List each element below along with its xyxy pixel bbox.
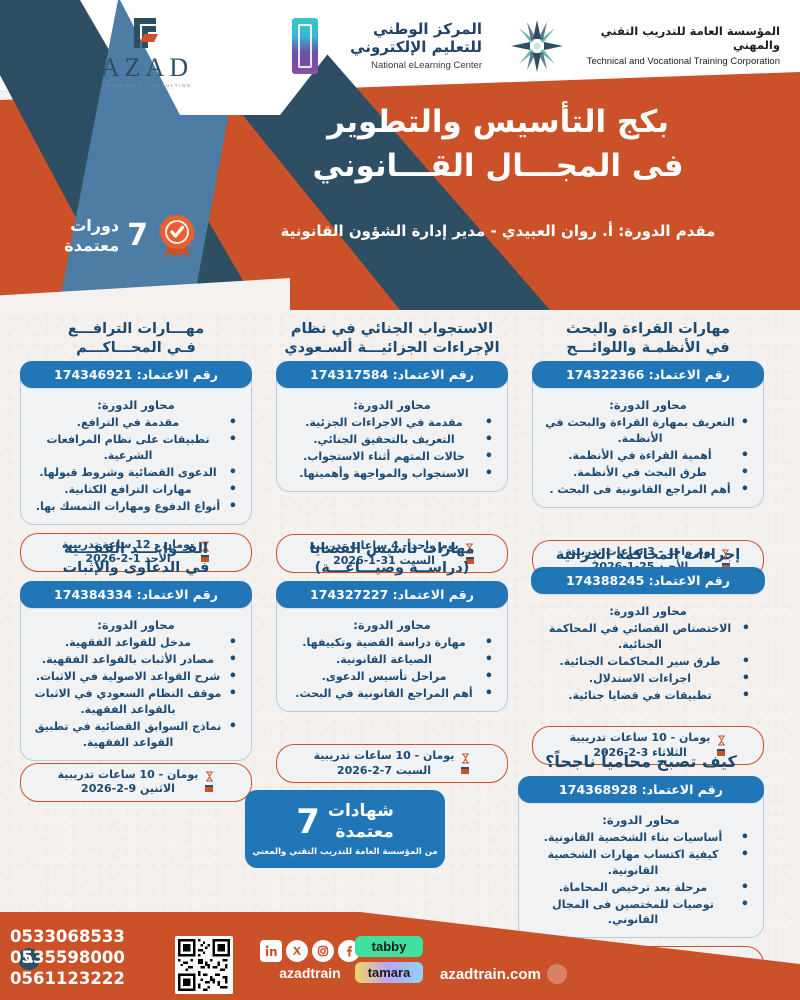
social-handle[interactable]: azadtrain (279, 965, 340, 981)
nelc-logo: المركز الوطني للتعليم الإلكتروني Nationa… (292, 10, 482, 82)
course-axis-item: نماذج السوابق القضائية في تطبيق القواعد … (31, 719, 237, 751)
certified-seal-icon (156, 213, 198, 259)
course-axis-item: أساسيات بناء الشخصية القانونية. (529, 830, 749, 846)
accreditation-number: رقم الاعتماد: 174384334 (20, 581, 252, 608)
course-axis-item: مرحلة بعد ترخيص المحاماة. (529, 880, 749, 896)
course-axis-item: حالات المتهم أثناء الاستجواب. (287, 449, 493, 465)
schedule-icons (460, 753, 470, 775)
course-title-line2: الإجراءات الجزائيـــة ألسـعودي (276, 339, 508, 358)
course-title: الاستجواب الجنائي في نظام الإجراءات الجز… (276, 320, 508, 358)
website-link[interactable]: azadtrain.com (440, 964, 567, 984)
course-axis-item: أهمية القراءة في الأنظمة. (543, 448, 749, 464)
axes-heading: محاور الدورة: (519, 813, 763, 827)
tabby-logo: tabby (355, 936, 423, 957)
azad-tagline: TRAINING & CONSULTING (102, 83, 192, 88)
course-duration: يومان - 10 ساعات تدريبية (314, 749, 455, 764)
phone-number[interactable]: 0533068533 (10, 926, 160, 947)
course-card[interactable]: مهارات تأسيس القضايا (دراســة وصيـــاغــ… (276, 540, 508, 783)
course-card[interactable]: مهـــارات الترافـــع فـي المحـــاكـــم ر… (20, 320, 252, 572)
courses-count-line1: دورات (64, 216, 119, 236)
tvtc-text: المؤسسة العامة للتدريب التقني والمهني Te… (574, 25, 780, 67)
axes-heading: محاور الدورة: (277, 398, 507, 412)
course-axis-item: تطبيقات على نظام المرافعات الشرعية. (31, 432, 237, 464)
tvtc-star-icon (508, 17, 566, 75)
course-axis-item: الاختصتاص القضائي في المحاكمة الجنائية. (542, 621, 750, 653)
course-axis-item: كيفية اكتساب مهارات الشخصية القانونية. (529, 847, 749, 879)
course-axis-item: مهارة دراسة القضية وتكييفها. (287, 635, 493, 651)
course-axis-item: طرق البحث في الأنظمة. (543, 465, 749, 481)
course-date: الاثنين 9-2-2026 (58, 782, 199, 797)
course-body: رقم الاعتماد: 174327227 محاور الدورة: مه… (276, 583, 508, 712)
axes-heading: محاور الدورة: (277, 618, 507, 632)
course-axis-item: تطبيقات في قضايا جنائية. (542, 688, 750, 704)
azad-logo: AZAD TRAINING & CONSULTING (72, 8, 222, 88)
certificates-label: شهادات معتمدة (328, 801, 394, 842)
course-axis-item: مدخل للقواعد الفقهية. (31, 635, 237, 651)
course-axes-list: مدخل للقواعد الفقهية. مصادر الأثبات بالق… (21, 635, 251, 751)
courses-count-badge: 7 دورات معتمدة (28, 205, 198, 267)
schedule-text: يومان - 10 ساعات تدريبية السبت 7-2-2026 (314, 749, 455, 779)
course-axes-list: مقدمة في الترافع. تطبيقات على نظام المرا… (21, 415, 251, 515)
course-schedule: يومان - 10 ساعات تدريبية الاثنين 9-2-202… (20, 763, 252, 803)
course-body: رقم الاعتماد: 174322366 محاور الدورة: ال… (532, 363, 764, 508)
course-axis-item: أهم المراجع القانونية في البحث. (287, 686, 493, 702)
course-axis-item: اجراءات الاستدلال. (542, 671, 750, 687)
course-body: رقم الاعتماد: 174346921 محاور الدورة: مق… (20, 363, 252, 525)
course-card[interactable]: القــواعـــد الفقـــية في الدعاوى والإثب… (20, 540, 252, 802)
certificates-note: من المؤسسة العامة للتدريب التقني والمعني (252, 847, 437, 857)
axes-heading: محاور الدورة: (533, 398, 763, 412)
course-axis-item: مقدمة في الترافع. (31, 415, 237, 431)
azad-wordmark: AZAD (101, 55, 193, 81)
nelc-text: المركز الوطني للتعليم الإلكتروني Nationa… (324, 21, 482, 71)
course-title-line1: مهارات تأسيس القضايا (276, 540, 508, 559)
poster-title-line2: فى المجـــال القـــانوني (218, 144, 778, 188)
payment-methods: tabby tamara (355, 936, 423, 983)
course-schedule: يومان - 10 ساعات تدريبية السبت 7-2-2026 (276, 744, 508, 784)
schedule-icons (204, 771, 214, 793)
schedule-text: يومان - 10 ساعات تدريبية الاثنين 9-2-202… (58, 768, 199, 798)
course-card[interactable]: مهارات القراءة والبحث في الأنظمـة واللوا… (532, 320, 764, 579)
axes-heading: محاور الدورة: (21, 618, 251, 632)
course-axis-item: مصادر الأثبات بالقواعد الفقهية. (31, 652, 237, 668)
course-axes-list: الاختصتاص القضائي في المحاكمة الجنائية. … (532, 621, 764, 704)
course-axis-item: شرح القواعد الاصولية في الاثبات. (31, 669, 237, 685)
course-axis-item: أنواع الدفوع ومهارات التمسك بها. (31, 499, 237, 515)
course-axis-item: أهم المراجع القانونية فى البحث . (543, 482, 749, 498)
course-card[interactable]: الاستجواب الجنائي في نظام الإجراءات الجز… (276, 320, 508, 573)
course-title-line2: في الدعاوى والإثبات (20, 559, 252, 578)
course-title: مهارات تأسيس القضايا (دراســة وصيـــاغــ… (276, 540, 508, 578)
course-body: رقم الاعتماد: 174388245 محاور الدورة: ال… (532, 569, 764, 704)
nelc-mark-icon (292, 18, 318, 74)
calendar-icon (460, 765, 470, 775)
tvtc-logo: المؤسسة العامة للتدريب التقني والمهني Te… (508, 10, 780, 82)
course-axis-item: التعريف بالتحقيق الجنائي. (287, 432, 493, 448)
calendar-icon (204, 783, 214, 793)
course-title-line2: في الأنظمـة واللوائـــح (532, 339, 764, 358)
tamara-logo: tamara (355, 962, 423, 983)
phone-number[interactable]: 0535598000 (10, 947, 160, 968)
nelc-english: National eLearning Center (324, 60, 482, 71)
hourglass-icon (461, 753, 470, 764)
course-axis-item: الاستجواب والمواجهة وأهميتها. (287, 466, 493, 482)
certificates-badge: شهادات معتمدة 7 من المؤسسة العامة للتدري… (245, 790, 445, 868)
accreditation-number: رقم الاعتماد: 174327227 (276, 581, 508, 608)
course-duration: يومان - 10 ساعات تدريبية (570, 731, 711, 746)
poster-title: بكج التأسيس والتطوير فى المجـــال القـــ… (218, 100, 778, 188)
course-axis-item: الدعوى القضائية وشروط قبولها. (31, 465, 237, 481)
course-axis-item: الصياغة القانونية. (287, 652, 493, 668)
course-title-line1: القــواعـــد الفقـــية (20, 540, 252, 559)
instagram-icon[interactable] (312, 940, 334, 962)
social-icon-row (260, 940, 360, 962)
accreditation-number: رقم الاعتماد: 174388245 (531, 567, 765, 594)
course-body: رقم الاعتماد: 174317584 محاور الدورة: مق… (276, 363, 508, 492)
phone-numbers[interactable]: 0533068533 0535598000 0561123222 (10, 926, 160, 989)
course-title: القــواعـــد الفقـــية في الدعاوى والإثب… (20, 540, 252, 578)
poster-root: AZAD TRAINING & CONSULTING المركز الوطني… (0, 0, 800, 1000)
hourglass-icon (205, 771, 214, 782)
tvtc-arabic: المؤسسة العامة للتدريب التقني والمهني (574, 25, 780, 53)
course-title-line1: مهـــارات الترافـــع (20, 320, 252, 339)
linkedin-icon[interactable] (260, 940, 282, 962)
certificates-row: شهادات معتمدة 7 (296, 801, 394, 842)
course-date: السبت 7-2-2026 (314, 764, 455, 779)
nelc-arabic-line1: المركز الوطني (324, 21, 482, 39)
course-axis-item: التعريف بمهارة القراءة والبحث في الأنظمة… (543, 415, 749, 447)
course-duration: يومان - 10 ساعات تدريبية (58, 768, 199, 783)
course-title-line1: مهارات القراءة والبحث (532, 320, 764, 339)
x-icon[interactable] (286, 940, 308, 962)
certificates-number: 7 (296, 805, 320, 839)
course-axis-item: مهارات الترافع الكتابية. (31, 482, 237, 498)
poster-title-line1: بكج التأسيس والتطوير (218, 100, 778, 144)
course-title: مهـــارات الترافـــع فـي المحـــاكـــم (20, 320, 252, 358)
phone-number[interactable]: 0561123222 (10, 968, 160, 989)
certificates-line2: معتمدة (328, 822, 394, 843)
poster-subtitle: مقدم الدورة: أ. روان العبيدي - مدير إدار… (218, 222, 778, 240)
course-axes-list: مقدمة في الاجراءات الجزئية. التعريف بالت… (277, 415, 507, 482)
course-title-line1: إجراءات المحاكمة الجزائية (532, 546, 764, 565)
tvtc-english: Technical and Vocational Training Corpor… (574, 56, 780, 67)
course-axes-list: التعريف بمهارة القراءة والبحث في الأنظمة… (533, 415, 763, 498)
course-axis-item: مراحل تأسيس الدعوى. (287, 669, 493, 685)
course-title: كيف تصبح محامياً ناجحاً؟ (518, 752, 764, 773)
course-title-line2: (دراســة وصيـــاغـــة) (276, 559, 508, 578)
accreditation-number: رقم الاعتماد: 174346921 (20, 361, 252, 388)
courses-count-line2: معتمدة (64, 236, 119, 256)
social-links: azadtrain (250, 940, 370, 981)
axes-heading: محاور الدورة: (532, 604, 764, 618)
accreditation-number: رقم الاعتماد: 174317584 (276, 361, 508, 388)
nelc-arabic-line2: للتعليم الإلكتروني (324, 39, 482, 57)
course-title-line1: الاستجواب الجنائي في نظام (276, 320, 508, 339)
globe-icon (547, 964, 567, 984)
course-card[interactable]: إجراءات المحاكمة الجزائية رقم الاعتماد: … (532, 545, 764, 765)
course-axes-list: مهارة دراسة القضية وتكييفها. الصياغة الق… (277, 635, 507, 702)
course-axis-item: مقدمة في الاجراءات الجزئية. (287, 415, 493, 431)
course-title: مهارات القراءة والبحث في الأنظمـة واللوا… (532, 320, 764, 358)
course-title-line1: كيف تصبح محامياً ناجحاً؟ (518, 752, 764, 773)
website-url[interactable]: azadtrain.com (440, 966, 541, 983)
accreditation-number: رقم الاعتماد: 174368928 (518, 776, 764, 803)
course-title: إجراءات المحاكمة الجزائية (532, 545, 764, 565)
azad-mark-icon (130, 14, 164, 52)
poster-header: AZAD TRAINING & CONSULTING المركز الوطني… (0, 0, 800, 310)
course-axis-item: موقف النظام السعودي في الاثبات بالقواعد … (31, 686, 237, 718)
certificates-line1: شهادات (328, 801, 394, 822)
axes-heading: محاور الدورة: (21, 398, 251, 412)
poster-footer: 0533068533 0535598000 0561123222 (0, 912, 800, 1000)
qr-code[interactable] (175, 936, 233, 994)
courses-count-label: دورات معتمدة (64, 216, 119, 256)
hourglass-icon (717, 735, 726, 746)
course-axis-item: طرق سير المحاكمات الجنائية. (542, 654, 750, 670)
courses-count-number: 7 (127, 221, 148, 251)
accreditation-number: رقم الاعتماد: 174322366 (532, 361, 764, 388)
course-title-line2: فـي المحـــاكـــم (20, 339, 252, 358)
course-body: رقم الاعتماد: 174384334 محاور الدورة: مد… (20, 583, 252, 761)
